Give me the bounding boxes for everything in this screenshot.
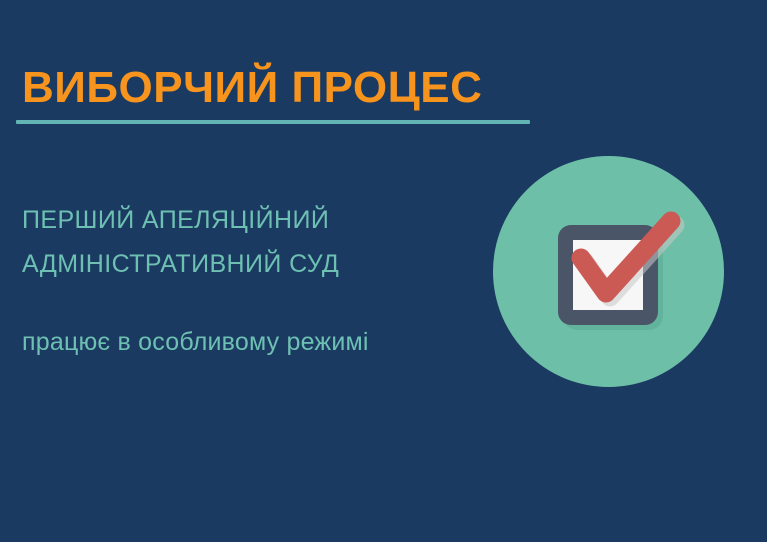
title-underline-divider: [16, 120, 530, 124]
election-process-banner: ВИБОРЧИЙ ПРОЦЕС ПЕРШИЙ АПЕЛЯЦІЙНИЙ АДМІН…: [0, 0, 767, 542]
operating-mode-text: працює в особливому режимі: [22, 325, 369, 359]
checkbox-icon-wrap: [493, 156, 724, 387]
court-name-line-1: ПЕРШИЙ АПЕЛЯЦІЙНИЙ: [22, 198, 462, 242]
checkbox-checked-icon: [493, 156, 724, 387]
court-name-line-2: АДМІНІСТРАТИВНИЙ СУД: [22, 242, 462, 286]
title-block: ВИБОРЧИЙ ПРОЦЕС: [16, 62, 536, 124]
court-name-block: ПЕРШИЙ АПЕЛЯЦІЙНИЙ АДМІНІСТРАТИВНИЙ СУД: [22, 198, 462, 286]
page-title: ВИБОРЧИЙ ПРОЦЕС: [16, 62, 536, 114]
